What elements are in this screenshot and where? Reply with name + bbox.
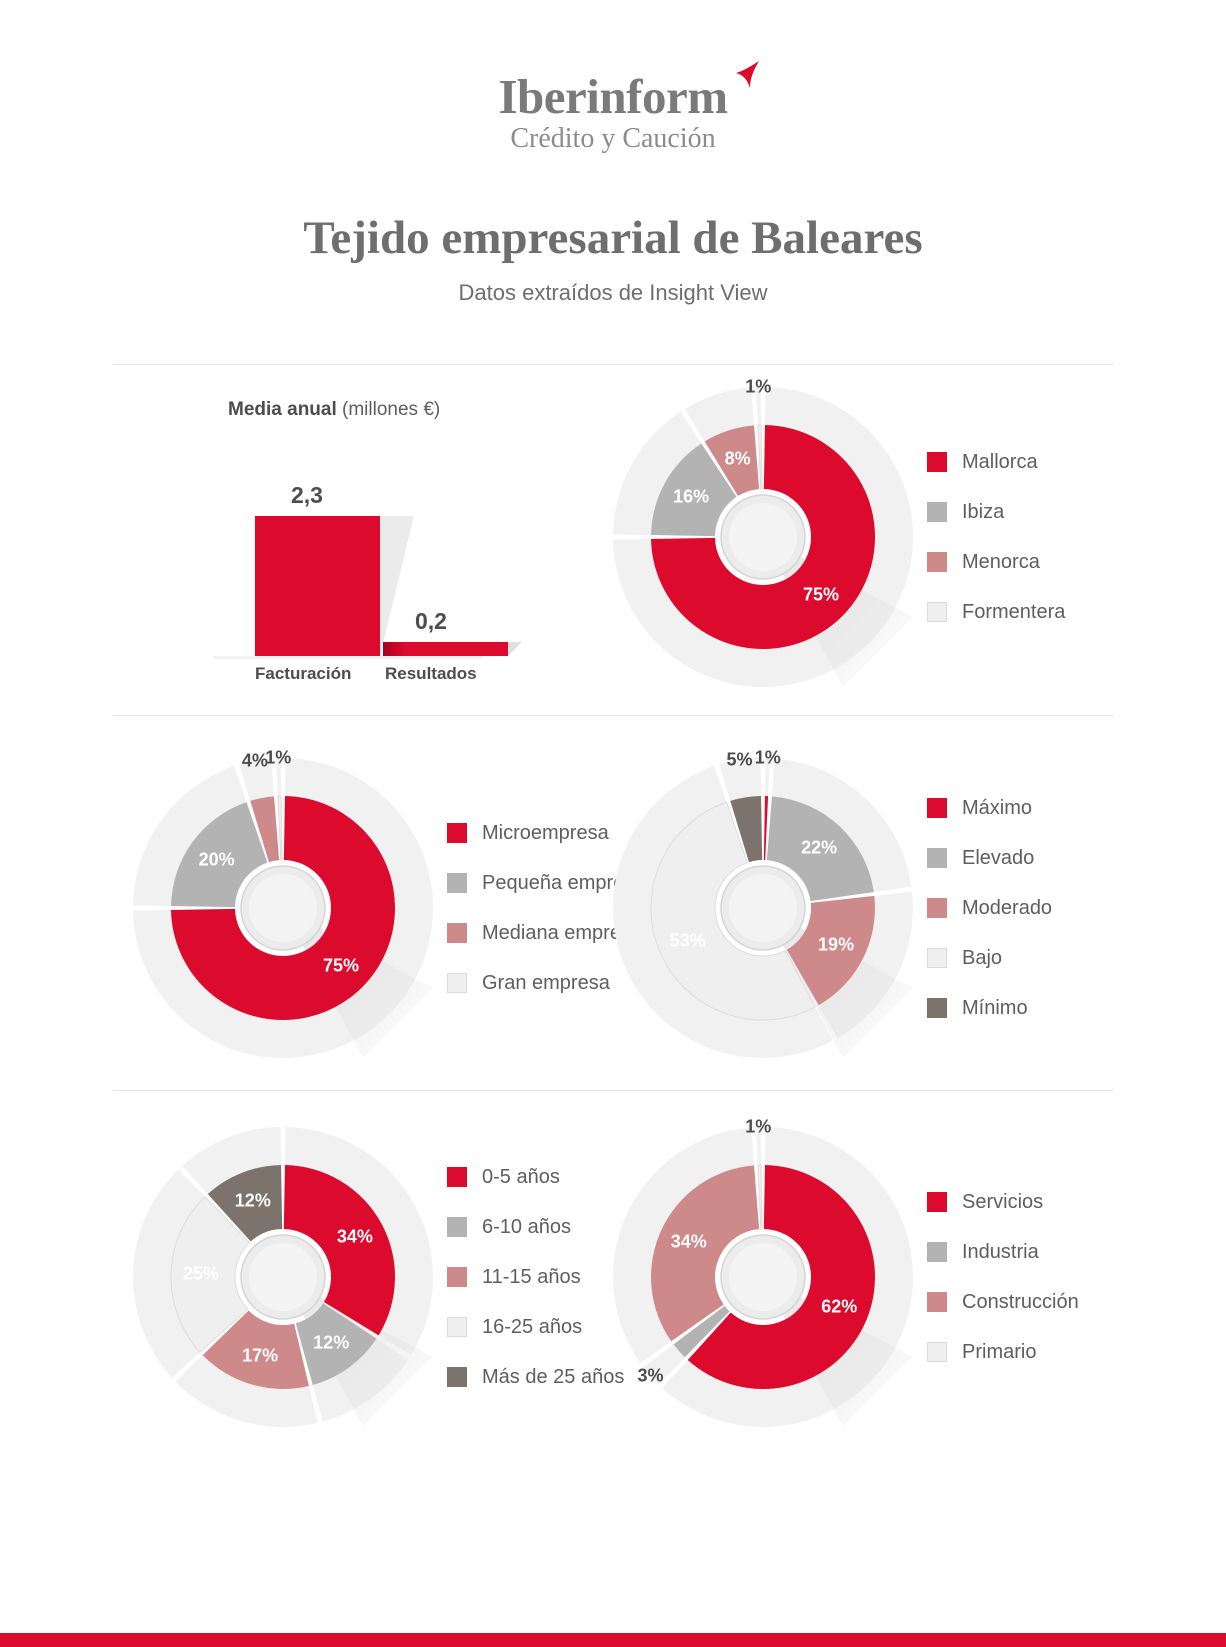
legend-swatch-icon (927, 452, 947, 472)
legend-label: Moderado (962, 897, 1052, 920)
bar-chart-plot: 2,3 0,2 Facturación Resultados (213, 459, 513, 659)
donut-tamano: 75%20%4%1% (133, 758, 433, 1058)
donut-value-label: 17% (242, 1345, 278, 1366)
legend-swatch-icon (447, 1317, 467, 1337)
legend-label: 11-15 años (482, 1266, 581, 1289)
brand-logo: Iberinform Crédito y Caución (0, 0, 1226, 153)
legend-item[interactable]: Menorca (927, 551, 1065, 574)
legend-label: 0-5 años (482, 1166, 560, 1189)
legend-riesgo: MáximoElevadoModeradoBajoMínimo (927, 797, 1052, 1020)
legend-swatch-icon (447, 823, 467, 843)
legend-label: Menorca (962, 551, 1040, 574)
bar-chart-title-unit: (millones €) (337, 399, 440, 420)
donut-riesgo-labels: 1%22%19%53%5% (613, 758, 913, 1058)
legend-item[interactable]: Industria (927, 1241, 1079, 1264)
legend-item[interactable]: Servicios (927, 1191, 1079, 1214)
chart-nivel-riesgo: 1%22%19%53%5% MáximoElevadoModeradoBajoM… (613, 716, 1113, 1058)
legend-label: Elevado (962, 847, 1034, 870)
donut-islas: 75%16%8%1% (613, 387, 913, 687)
legend-item[interactable]: Ibiza (927, 501, 1065, 524)
legend-swatch-icon (927, 848, 947, 868)
legend-swatch-icon (447, 1367, 467, 1387)
legend-swatch-icon (927, 552, 947, 572)
legend-swatch-icon (927, 1292, 947, 1312)
legend-swatch-icon (927, 602, 947, 622)
legend-swatch-icon (927, 1342, 947, 1362)
donut-value-label: 19% (818, 935, 854, 956)
legend-swatch-icon (927, 948, 947, 968)
legend-item[interactable]: 11-15 años (447, 1266, 624, 1289)
legend-label: Mínimo (962, 997, 1028, 1020)
donut-value-label: 75% (323, 955, 359, 976)
legend-item[interactable]: Construcción (927, 1291, 1079, 1314)
page-title: Tejido empresarial de Baleares (0, 215, 1226, 262)
legend-swatch-icon (447, 1167, 467, 1187)
donut-value-label: 12% (235, 1190, 271, 1211)
donut-value-label: 3% (637, 1366, 663, 1387)
legend-label: Microempresa (482, 822, 609, 845)
legend-item[interactable]: Bajo (927, 947, 1052, 970)
legend-item[interactable]: Mallorca (927, 451, 1065, 474)
legend-swatch-icon (447, 1267, 467, 1287)
legend-item[interactable]: 0-5 años (447, 1166, 624, 1189)
donut-riesgo: 1%22%19%53%5% (613, 758, 913, 1058)
donut-islas-labels: 75%16%8%1% (613, 387, 913, 687)
section-two: 75%20%4%1% MicroempresaPequeña empresaMe… (113, 716, 1113, 1058)
donut-value-label: 34% (337, 1227, 373, 1248)
legend-label: Construcción (962, 1291, 1079, 1314)
legend-label: Primario (962, 1341, 1036, 1364)
legend-item[interactable]: 6-10 años (447, 1216, 624, 1239)
legend-item[interactable]: Mínimo (927, 997, 1052, 1020)
bar-value-resultados: 0,2 (415, 608, 447, 635)
donut-value-label: 62% (821, 1297, 857, 1318)
donut-sector-labels: 62%3%34%1% (613, 1127, 913, 1427)
legend-item[interactable]: Máximo (927, 797, 1052, 820)
legend-islas: MallorcaIbizaMenorcaFormentera (927, 451, 1065, 624)
legend-item[interactable]: Más de 25 años (447, 1366, 624, 1389)
donut-value-label: 1% (745, 377, 771, 398)
legend-swatch-icon (927, 798, 947, 818)
chart-sector: 62%3%34%1% ServiciosIndustriaConstrucció… (613, 1091, 1113, 1427)
legend-item[interactable]: Formentera (927, 601, 1065, 624)
donut-antiguedad: 34%12%17%25%12% (133, 1127, 433, 1427)
chart-antiguedad: 34%12%17%25%12% 0-5 años6-10 años11-15 a… (113, 1091, 613, 1427)
donut-value-label: 4% (242, 750, 268, 771)
donut-value-label: 1% (265, 748, 291, 769)
brand-tagline: Crédito y Caución (0, 125, 1226, 153)
donut-value-label: 16% (673, 487, 709, 508)
legend-antiguedad: 0-5 años6-10 años11-15 años16-25 añosMás… (447, 1166, 624, 1389)
donut-value-label: 8% (725, 449, 751, 470)
legend-label: 16-25 años (482, 1316, 582, 1339)
legend-item[interactable]: Moderado (927, 897, 1052, 920)
legend-label: Máximo (962, 797, 1032, 820)
bar-baseline (213, 656, 483, 659)
legend-item[interactable]: 16-25 años (447, 1316, 624, 1339)
legend-swatch-icon (447, 873, 467, 893)
legend-swatch-icon (447, 1217, 467, 1237)
page-subtitle: Datos extraídos de Insight View (0, 280, 1226, 306)
donut-antiguedad-labels: 34%12%17%25%12% (133, 1127, 433, 1427)
bar-category-resultados: Resultados (385, 664, 477, 684)
donut-tamano-labels: 75%20%4%1% (133, 758, 433, 1058)
chart-media-anual: Media anual (millones €) 2,3 0,2 Factura… (113, 365, 613, 687)
bar-category-facturacion: Facturación (255, 664, 351, 684)
legend-label: Bajo (962, 947, 1002, 970)
legend-swatch-icon (927, 502, 947, 522)
legend-label: Formentera (962, 601, 1065, 624)
legend-swatch-icon (447, 973, 467, 993)
legend-label: Mallorca (962, 451, 1038, 474)
donut-sector: 62%3%34%1% (613, 1127, 913, 1427)
legend-label: Más de 25 años (482, 1366, 624, 1389)
legend-sector: ServiciosIndustriaConstrucciónPrimario (927, 1191, 1079, 1364)
legend-label: Servicios (962, 1191, 1043, 1214)
legend-swatch-icon (447, 923, 467, 943)
legend-swatch-icon (927, 898, 947, 918)
legend-label: Industria (962, 1241, 1039, 1264)
donut-value-label: 1% (745, 1117, 771, 1138)
legend-item[interactable]: Elevado (927, 847, 1052, 870)
chart-islas: 75%16%8%1% MallorcaIbizaMenorcaFormenter… (613, 365, 1113, 687)
chart-tamano-empresa: 75%20%4%1% MicroempresaPequeña empresaMe… (113, 716, 613, 1058)
footer-accent-bar (0, 1633, 1226, 1647)
brand-name: Iberinform (498, 72, 727, 121)
section-one: Media anual (millones €) 2,3 0,2 Factura… (113, 365, 1113, 687)
legend-item[interactable]: Primario (927, 1341, 1079, 1364)
donut-value-label: 25% (183, 1264, 219, 1285)
bar-facturacion (255, 516, 380, 656)
donut-value-label: 53% (670, 930, 706, 951)
donut-value-label: 34% (671, 1232, 707, 1253)
bar-shadow (380, 516, 414, 656)
legend-label: 6-10 años (482, 1216, 571, 1239)
iberinform-propeller-icon (719, 58, 761, 100)
donut-value-label: 75% (803, 584, 839, 605)
bar-shadow (508, 642, 522, 656)
donut-value-label: 22% (801, 838, 837, 859)
legend-label: Ibiza (962, 501, 1004, 524)
donut-value-label: 20% (199, 849, 235, 870)
section-three: 34%12%17%25%12% 0-5 años6-10 años11-15 a… (113, 1091, 1113, 1427)
bar-chart-title: Media anual (millones €) (228, 399, 613, 421)
donut-value-label: 12% (313, 1333, 349, 1354)
bar-value-facturacion: 2,3 (291, 482, 323, 509)
donut-value-label: 1% (755, 748, 781, 769)
legend-swatch-icon (927, 998, 947, 1018)
legend-swatch-icon (927, 1242, 947, 1262)
donut-value-label: 5% (727, 749, 753, 770)
bar-resultados (383, 642, 508, 656)
bar-chart-title-bold: Media anual (228, 399, 337, 420)
legend-swatch-icon (927, 1192, 947, 1212)
legend-label: Gran empresa (482, 972, 610, 995)
